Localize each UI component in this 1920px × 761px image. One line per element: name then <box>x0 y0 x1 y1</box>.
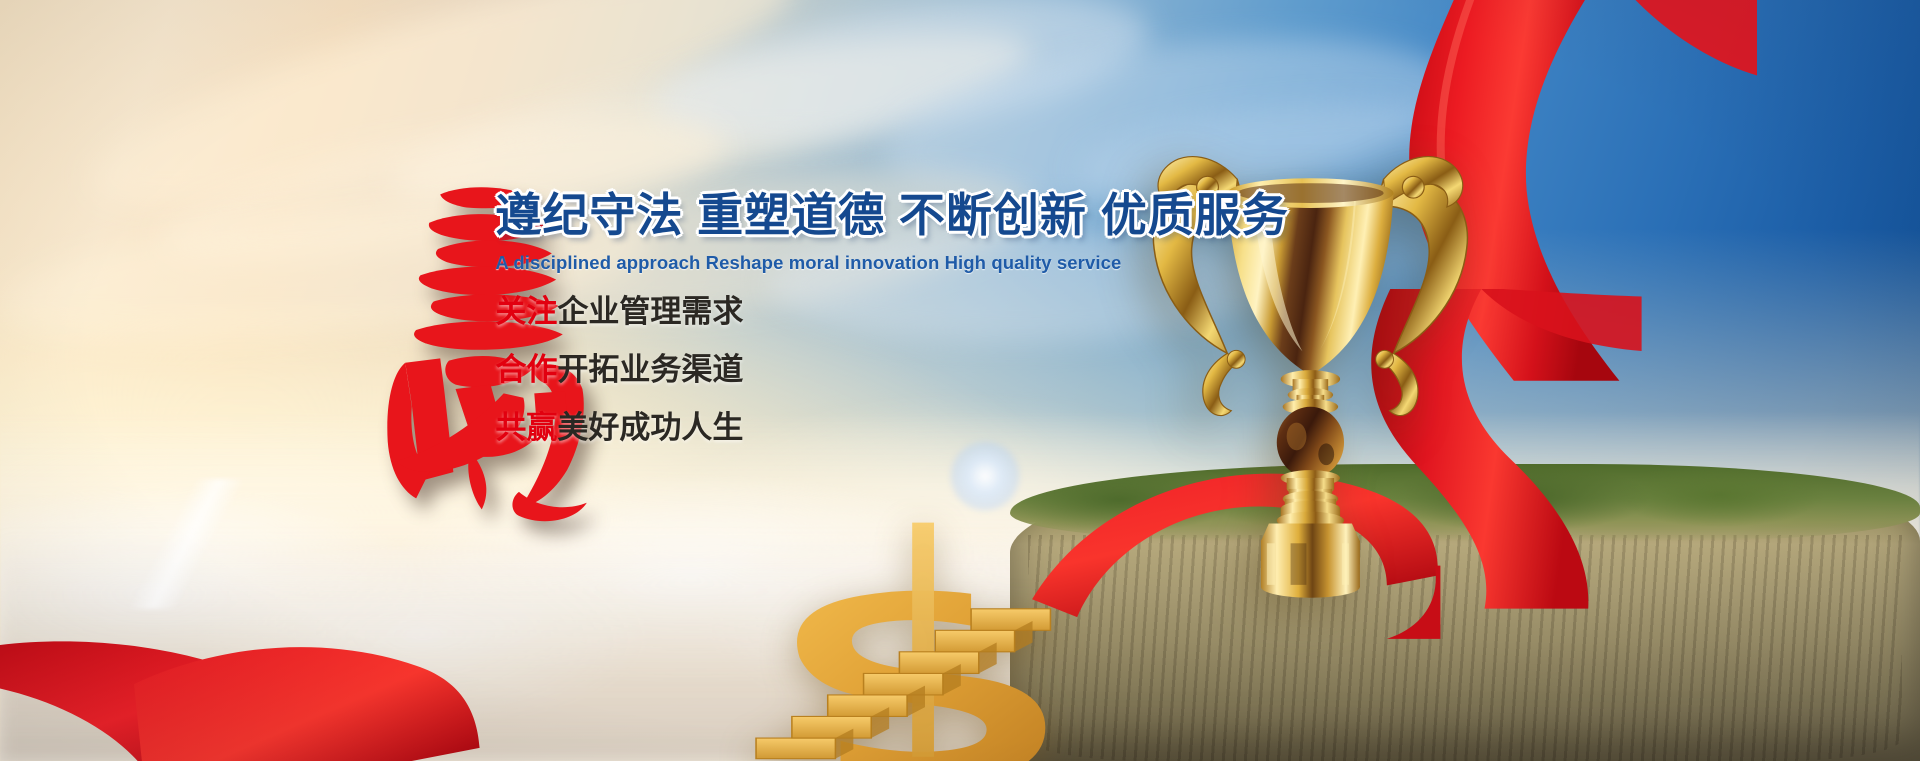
copy-block: 遵纪守法 重塑道德 不断创新 优质服务 A disciplined approa… <box>495 192 1397 470</box>
slogan-highlight: 关注 <box>495 294 557 329</box>
lens-flare-streak <box>61 479 311 608</box>
list-item: 共赢美好成功人生 <box>495 412 1397 443</box>
slogan-highlight: 共赢 <box>495 410 557 445</box>
slogan-rest: 美好成功人生 <box>557 410 743 445</box>
page-title: 遵纪守法 重塑道德 不断创新 优质服务 <box>495 192 1397 239</box>
slogan-list: 关注企业管理需求 合作开拓业务渠道 共赢美好成功人生 <box>495 296 1397 443</box>
slogan-rest: 企业管理需求 <box>557 294 743 329</box>
list-item: 合作开拓业务渠道 <box>495 354 1397 385</box>
promotional-banner: 遵纪守法 重塑道德 不断创新 优质服务 A disciplined approa… <box>0 0 1920 761</box>
slogan-highlight: 合作 <box>495 352 557 387</box>
slogan-rest: 开拓业务渠道 <box>557 352 743 387</box>
subtitle-english: A disciplined approach Reshape moral inn… <box>495 252 1397 274</box>
dollar-stairs-graphic <box>733 517 1117 761</box>
list-item: 关注企业管理需求 <box>495 296 1397 327</box>
